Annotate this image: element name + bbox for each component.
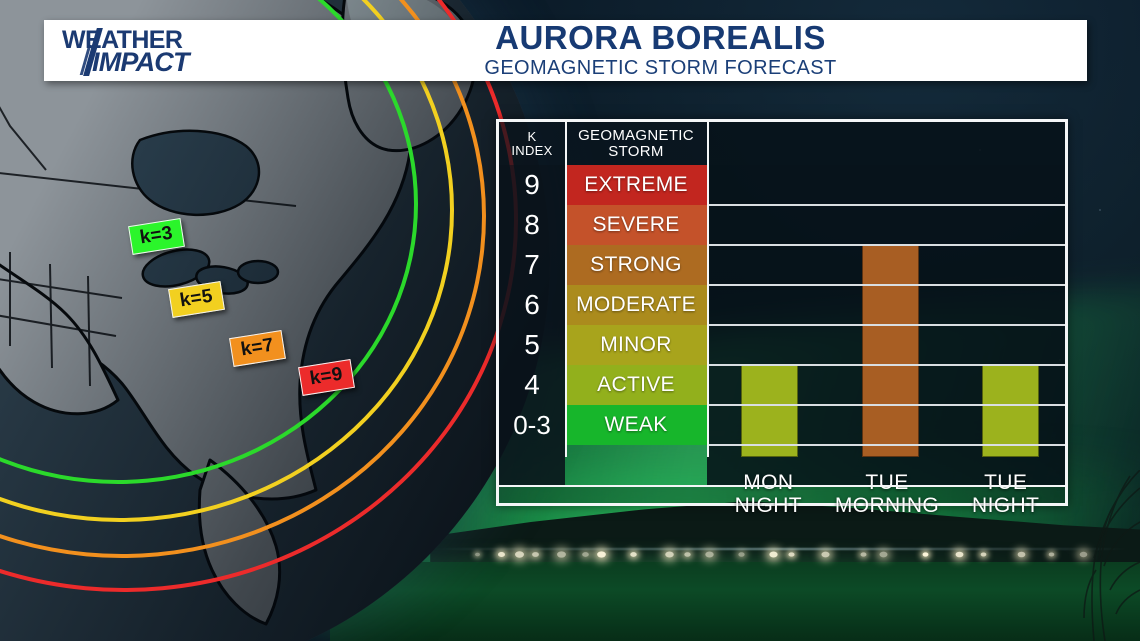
k-index-cell: 8 — [499, 205, 565, 245]
k-index-cell: 6 — [499, 285, 565, 325]
chart-gridline — [709, 444, 1065, 446]
chart-gridline — [709, 364, 1065, 366]
bar-slot — [862, 165, 919, 457]
globe — [0, 0, 550, 641]
bar — [862, 245, 919, 457]
chart-gridline — [709, 324, 1065, 326]
storm-level-cell: STRONG — [565, 245, 707, 285]
table-divider-2 — [707, 122, 709, 457]
category-label: MONNIGHT — [709, 485, 828, 503]
footer-top-rule — [499, 485, 1065, 487]
storm-level-cell: SEVERE — [565, 205, 707, 245]
category-label-line: MON — [743, 471, 793, 494]
chart-gridline — [709, 204, 1065, 206]
category-label-line: NIGHT — [735, 494, 802, 517]
column-header-k-index: K INDEX — [499, 122, 565, 165]
storm-level-cell: MINOR — [565, 325, 707, 365]
bar-slot — [741, 165, 798, 457]
k-index-cell: 9 — [499, 165, 565, 205]
k-index-cell: 4 — [499, 365, 565, 405]
k-index-cell: 5 — [499, 325, 565, 365]
title-block: AURORA BOREALIS GEOMAGNETIC STORM FORECA… — [234, 20, 1087, 81]
storm-level-cell: MODERATE — [565, 285, 707, 325]
storm-level-cell: EXTREME — [565, 165, 707, 205]
category-label: TUEMORNING — [828, 485, 947, 503]
page-subtitle: GEOMAGNETIC STORM FORECAST — [484, 56, 836, 81]
category-label-line: TUE — [865, 471, 908, 494]
forecast-panel: K INDEX GEOMAGNETIC STORM 9EXTREME8SEVER… — [496, 119, 1068, 506]
category-label-line: TUE — [984, 471, 1027, 494]
weather-graphic: k=3 k=5 k=7 k=9 WEATHER IMPACT AURORA BO… — [0, 0, 1140, 641]
k-index-cell-spacer — [499, 445, 565, 485]
k-index-cell: 0-3 — [499, 405, 565, 445]
table-divider-1 — [565, 122, 567, 457]
chart-gridline — [709, 244, 1065, 246]
axis-label-row: MONNIGHTTUEMORNINGTUENIGHT — [499, 485, 1065, 503]
storm-level-cell: ACTIVE — [565, 365, 707, 405]
storm-level-cell-spacer — [565, 445, 707, 485]
weather-impact-logo: WEATHER IMPACT — [56, 25, 231, 77]
chart-header-spacer — [707, 122, 1065, 165]
storm-header-line1: GEOMAGNETIC — [578, 128, 694, 143]
storm-level-cell: WEAK — [565, 405, 707, 445]
k-index-header-line1: K — [511, 130, 552, 143]
category-label-line: NIGHT — [972, 494, 1039, 517]
bar-slot — [982, 165, 1039, 457]
category-label: TUENIGHT — [946, 485, 1065, 503]
chart-gridline — [709, 284, 1065, 286]
k-index-header-line2: INDEX — [511, 144, 552, 157]
k-index-cell: 7 — [499, 245, 565, 285]
category-label-line: MORNING — [835, 494, 939, 517]
page-title: AURORA BOREALIS — [495, 21, 826, 54]
category-labels: MONNIGHTTUEMORNINGTUENIGHT — [709, 485, 1065, 503]
logo-impact-text: IMPACT — [92, 47, 189, 78]
storm-header-line2: STORM — [578, 144, 694, 159]
chart-gridline — [709, 404, 1065, 406]
column-header-geomagnetic-storm: GEOMAGNETIC STORM — [565, 122, 707, 165]
bar-series — [709, 165, 1065, 457]
header-banner: WEATHER IMPACT AURORA BOREALIS GEOMAGNET… — [44, 20, 1087, 81]
